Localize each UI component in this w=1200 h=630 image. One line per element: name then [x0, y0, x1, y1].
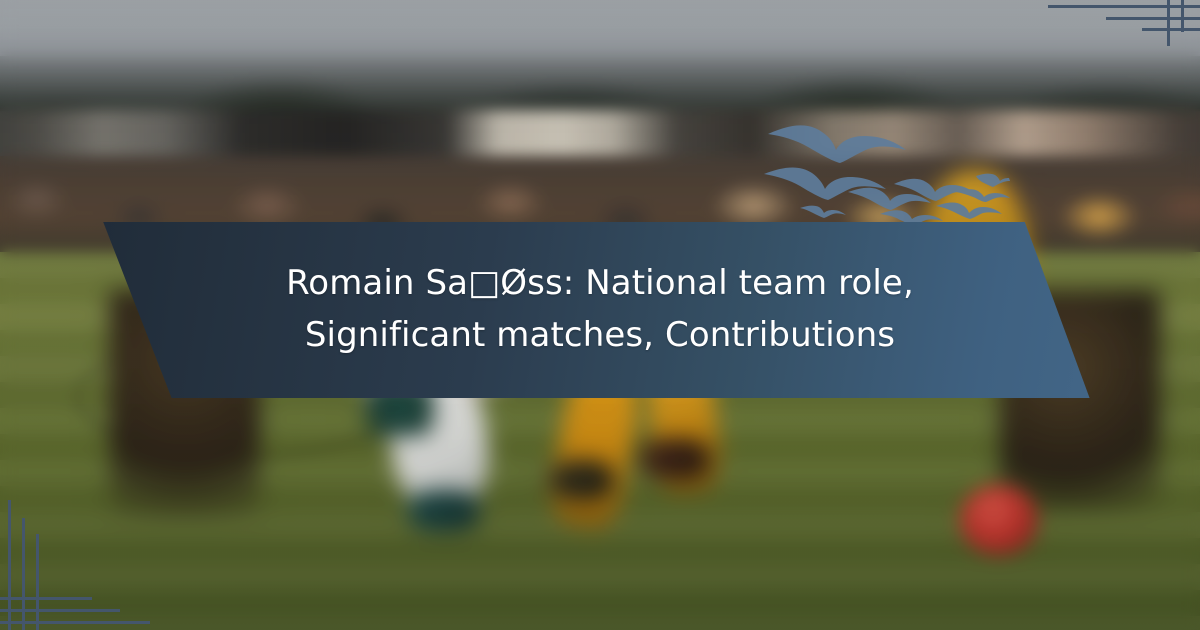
corner-line-v3	[36, 534, 39, 630]
bird-flock-icon	[760, 118, 1010, 233]
corner-line-v2	[22, 518, 25, 630]
corner-decoration-bottom-left	[0, 578, 190, 630]
corner-line-h3	[1142, 28, 1200, 31]
corner-line-h2	[1106, 17, 1200, 20]
corner-line-v1	[1167, 0, 1170, 46]
corner-line-h1	[1048, 5, 1200, 8]
corner-line-h2	[0, 609, 120, 612]
corner-line-v2	[1181, 0, 1184, 32]
page-title: Romain Sa□Øss: National team role, Signi…	[270, 258, 930, 361]
share-card: Romain Sa□Øss: National team role, Signi…	[0, 0, 1200, 630]
corner-line-v1	[8, 500, 11, 630]
corner-decoration-top-right	[1020, 0, 1200, 48]
corner-line-h1	[0, 597, 92, 600]
title-banner: Romain Sa□Øss: National team role, Signi…	[0, 222, 1200, 398]
